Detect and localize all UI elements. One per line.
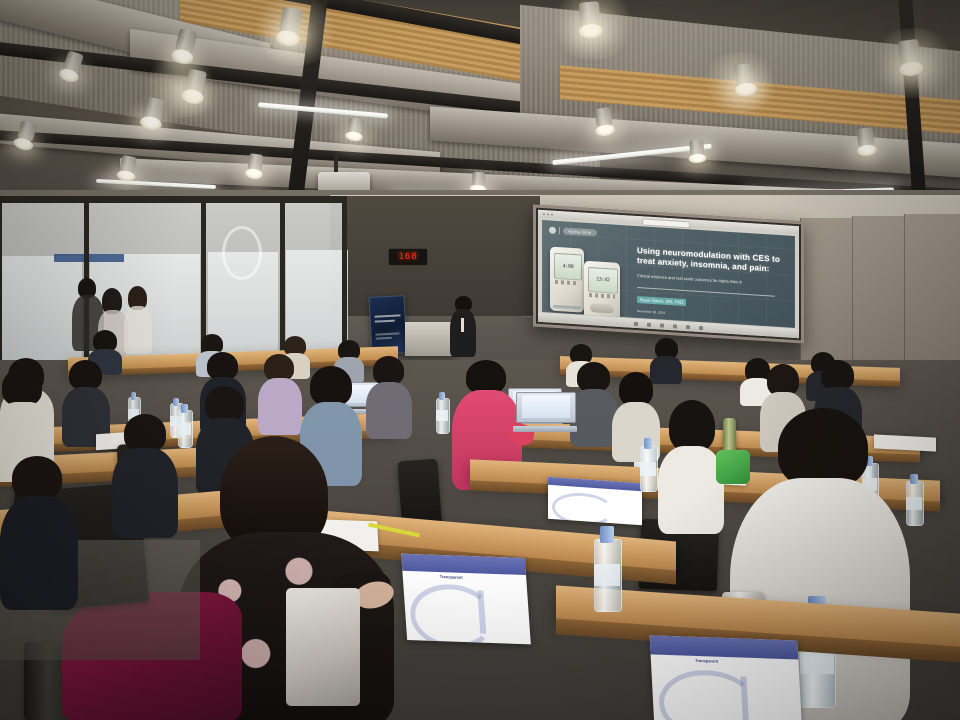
ceiling-spotlight: [857, 127, 876, 155]
device-lcd-left: 4:00: [554, 253, 582, 281]
window-blind: [800, 218, 853, 368]
toolbar-button[interactable]: [686, 325, 690, 329]
brand-wordmark: Alpha-Stim: [563, 227, 597, 236]
handout-folder[interactable]: Transparent: [401, 554, 531, 645]
audience-member: [258, 354, 302, 432]
led-number-display: 168: [388, 248, 428, 266]
projection-screen: Alpha-Stim 4:00 13:42: [533, 204, 804, 343]
slide-content: Alpha-Stim 4:00 13:42: [542, 220, 795, 328]
toolbar-button[interactable]: [660, 323, 664, 327]
toolbar-button[interactable]: [699, 325, 703, 329]
presentation-app-window: Alpha-Stim 4:00 13:42: [538, 210, 799, 338]
audience-member: [366, 356, 412, 436]
green-bag[interactable]: [716, 450, 750, 484]
device-images: 4:00 13:42: [550, 243, 630, 326]
ceiling-spotlight: [734, 63, 755, 95]
ceiling-spotlight: [118, 155, 137, 181]
ceiling-spotlight: [689, 140, 705, 163]
ceiling-spotlight: [898, 39, 922, 75]
handbag[interactable]: [286, 588, 360, 706]
ceiling-spotlight: [594, 107, 613, 135]
device-lcd-right: 13:42: [588, 267, 617, 294]
water-bottle[interactable]: [640, 438, 656, 492]
ceiling-spotlight: [246, 153, 263, 179]
water-bottle[interactable]: [436, 392, 448, 434]
device-left-reading: 4:00: [563, 263, 574, 270]
handout-folder[interactable]: Transparent: [650, 635, 803, 720]
wall-shadow-left: [330, 196, 540, 316]
audience-member: [0, 456, 78, 606]
slide-divider: [637, 287, 775, 297]
side-table: [405, 322, 455, 356]
slide-text-block: Using neuromodulation with CES to treat …: [637, 246, 787, 323]
slide-presenter-name: Ryan Gaten, MS, PhD: [637, 296, 686, 306]
slide-title: Using neuromodulation with CES to treat …: [637, 246, 787, 276]
logo-divider: [559, 227, 560, 234]
window-blind: [904, 214, 960, 368]
person-behind-glass: [124, 286, 152, 352]
seminar-room-photo: 168 Alpha-Stim: [0, 0, 960, 720]
laptop[interactable]: [516, 392, 574, 432]
toolbar-button[interactable]: [634, 321, 638, 325]
toolbar-button[interactable]: [647, 322, 651, 326]
audience-member: [112, 414, 178, 534]
handout-folder[interactable]: [548, 477, 642, 526]
slide-subtitle: Clinical evidence and real world outcome…: [637, 273, 787, 288]
folder-brand-text: Transparent: [440, 574, 463, 580]
led-sign-text: 168: [398, 252, 417, 262]
ceiling-spotlight: [579, 1, 601, 36]
ceiling: [0, 0, 960, 215]
water-bottle[interactable]: [594, 526, 620, 612]
audience-member: [570, 362, 618, 444]
folder-brand-text: Transparent: [695, 658, 718, 664]
slide-brand-logo: Alpha-Stim: [549, 226, 597, 236]
toolbar-button[interactable]: [673, 324, 677, 328]
presenter: [450, 296, 476, 356]
window-blind: [852, 216, 905, 368]
device-alpha-stim-left: 4:00: [550, 247, 584, 313]
brand-badge-icon: [549, 226, 556, 233]
audience-member: [658, 400, 724, 530]
audience-member: [62, 360, 110, 444]
ceiling-spotlight: [347, 117, 364, 141]
device-right-reading: 13:42: [596, 277, 610, 284]
